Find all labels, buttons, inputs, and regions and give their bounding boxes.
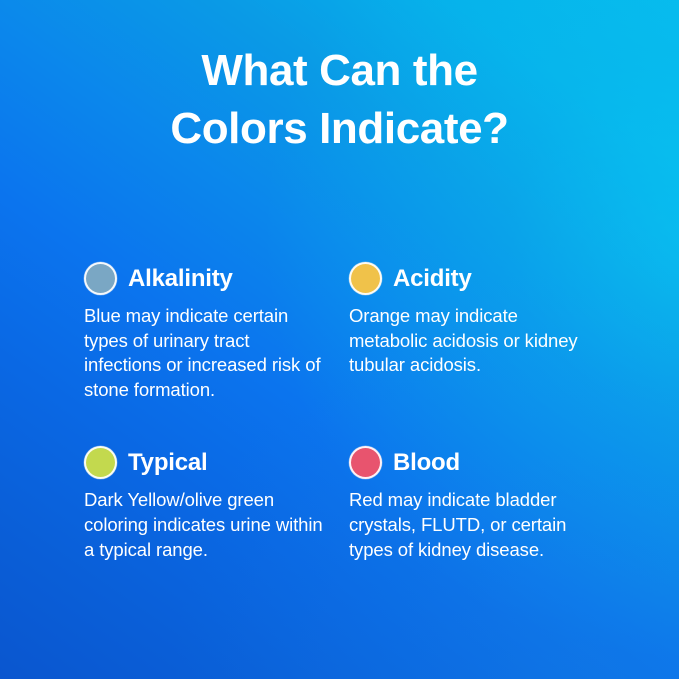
legend-item-typical-header: Typical <box>84 446 331 479</box>
color-legend-grid: Alkalinity Blue may indicate certain typ… <box>84 262 614 562</box>
page-title-line-2: Colors Indicate? <box>0 100 679 158</box>
legend-item-acidity-title: Acidity <box>393 267 472 291</box>
infographic-panel: What Can the Colors Indicate? Alkalinity… <box>0 0 679 679</box>
legend-item-alkalinity: Alkalinity Blue may indicate certain typ… <box>84 262 349 402</box>
typical-swatch-icon <box>84 446 117 479</box>
page-title-line-1: What Can the <box>0 42 679 100</box>
alkalinity-swatch-icon <box>84 262 117 295</box>
infographic-content: What Can the Colors Indicate? Alkalinity… <box>0 0 679 679</box>
acidity-swatch-icon <box>349 262 382 295</box>
legend-item-blood-title: Blood <box>393 451 460 475</box>
legend-item-alkalinity-description: Blue may indicate certain types of urina… <box>84 304 330 402</box>
legend-item-blood-header: Blood <box>349 446 596 479</box>
blood-swatch-icon <box>349 446 382 479</box>
legend-item-typical: Typical Dark Yellow/olive green coloring… <box>84 446 349 562</box>
page-title: What Can the Colors Indicate? <box>0 0 679 158</box>
legend-item-typical-title: Typical <box>128 451 208 475</box>
legend-item-acidity-description: Orange may indicate metabolic acidosis o… <box>349 304 595 378</box>
legend-item-blood-description: Red may indicate bladder crystals, FLUTD… <box>349 488 595 562</box>
legend-item-alkalinity-header: Alkalinity <box>84 262 331 295</box>
legend-item-alkalinity-title: Alkalinity <box>128 267 233 291</box>
legend-item-blood: Blood Red may indicate bladder crystals,… <box>349 446 614 562</box>
legend-item-acidity: Acidity Orange may indicate metabolic ac… <box>349 262 614 402</box>
legend-item-typical-description: Dark Yellow/olive green coloring indicat… <box>84 488 330 562</box>
legend-item-acidity-header: Acidity <box>349 262 596 295</box>
